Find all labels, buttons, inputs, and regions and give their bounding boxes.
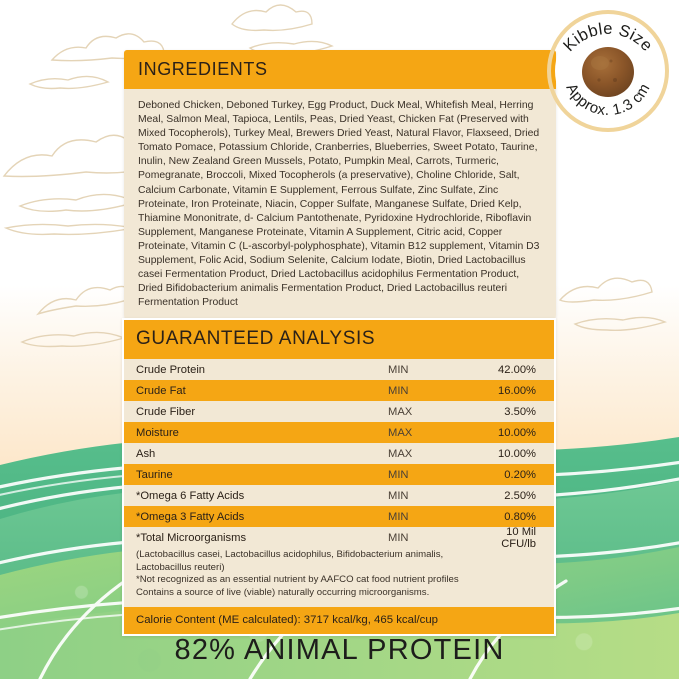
nutrient-limit: MAX [388, 448, 483, 460]
ingredients-panel: INGREDIENTS Deboned Chicken, Deboned Tur… [124, 50, 556, 324]
table-row: Ash MAX 10.00% [124, 443, 554, 464]
nutrient-value: 16.00% [483, 385, 544, 397]
nutrient-limit: MAX [388, 406, 483, 418]
ingredients-heading: INGREDIENTS [124, 50, 556, 89]
nutrient-name: *Omega 6 Fatty Acids [136, 490, 388, 502]
kibble-piece-icon [582, 47, 634, 97]
nutrient-value: 10 Mil CFU/lb [483, 526, 544, 550]
nutrient-name: Crude Protein [136, 364, 388, 376]
nutrient-name: Ash [136, 448, 388, 460]
nutrient-value: 3.50% [483, 406, 544, 418]
nutrient-name: Moisture [136, 427, 388, 439]
table-row: *Omega 3 Fatty Acids MIN 0.80% [124, 506, 554, 527]
product-label-infographic: INGREDIENTS Deboned Chicken, Deboned Tur… [0, 0, 679, 679]
guaranteed-analysis-heading: GUARANTEED ANALYSIS [124, 320, 554, 359]
nutrient-name: *Omega 3 Fatty Acids [136, 511, 388, 523]
nutrient-limit: MIN [388, 532, 483, 544]
nutrient-value: 0.80% [483, 511, 544, 523]
ingredients-text: Deboned Chicken, Deboned Turkey, Egg Pro… [124, 89, 556, 324]
nutrient-value: 2.50% [483, 490, 544, 502]
table-row: Crude Fat MIN 16.00% [124, 380, 554, 401]
kibble-size-badge: Kibble Size Approx. 1.3 cm [543, 6, 673, 136]
animal-protein-text: 82% ANIMAL PROTEIN [175, 634, 505, 667]
footnote-line: (Lactobacillus casei, Lactobacillus acid… [136, 549, 542, 562]
footnote-line: Lactobacillus reuteri) [136, 562, 542, 575]
nutrient-name: Taurine [136, 469, 388, 481]
nutrient-value: 0.20% [483, 469, 544, 481]
nutrient-value: 10.00% [483, 448, 544, 460]
nutrient-limit: MIN [388, 490, 483, 502]
nutrient-name: Crude Fiber [136, 406, 388, 418]
guaranteed-analysis-panel: GUARANTEED ANALYSIS Crude Protein MIN 42… [122, 318, 556, 636]
table-row: Crude Fiber MAX 3.50% [124, 401, 554, 422]
table-row: Taurine MIN 0.20% [124, 464, 554, 485]
guaranteed-analysis-table: Crude Protein MIN 42.00% Crude Fat MIN 1… [124, 359, 554, 548]
nutrient-limit: MIN [388, 511, 483, 523]
nutrient-limit: MIN [388, 364, 483, 376]
nutrient-limit: MIN [388, 469, 483, 481]
nutrient-limit: MAX [388, 427, 483, 439]
nutrient-name: *Total Microorganisms [136, 532, 388, 544]
animal-protein-banner: 82% ANIMAL PROTEIN [0, 621, 679, 679]
guaranteed-analysis-footnotes: (Lactobacillus casei, Lactobacillus acid… [124, 548, 554, 607]
table-row: *Total Microorganisms MIN 10 Mil CFU/lb [124, 527, 554, 548]
table-row: Moisture MAX 10.00% [124, 422, 554, 443]
footnote-line: Contains a source of live (viable) natur… [136, 587, 542, 600]
nutrient-value: 10.00% [483, 427, 544, 439]
table-row: Crude Protein MIN 42.00% [124, 359, 554, 380]
footnote-line: *Not recognized as an essential nutrient… [136, 574, 542, 587]
nutrient-value: 42.00% [483, 364, 544, 376]
nutrient-limit: MIN [388, 385, 483, 397]
table-row: *Omega 6 Fatty Acids MIN 2.50% [124, 485, 554, 506]
nutrient-name: Crude Fat [136, 385, 388, 397]
